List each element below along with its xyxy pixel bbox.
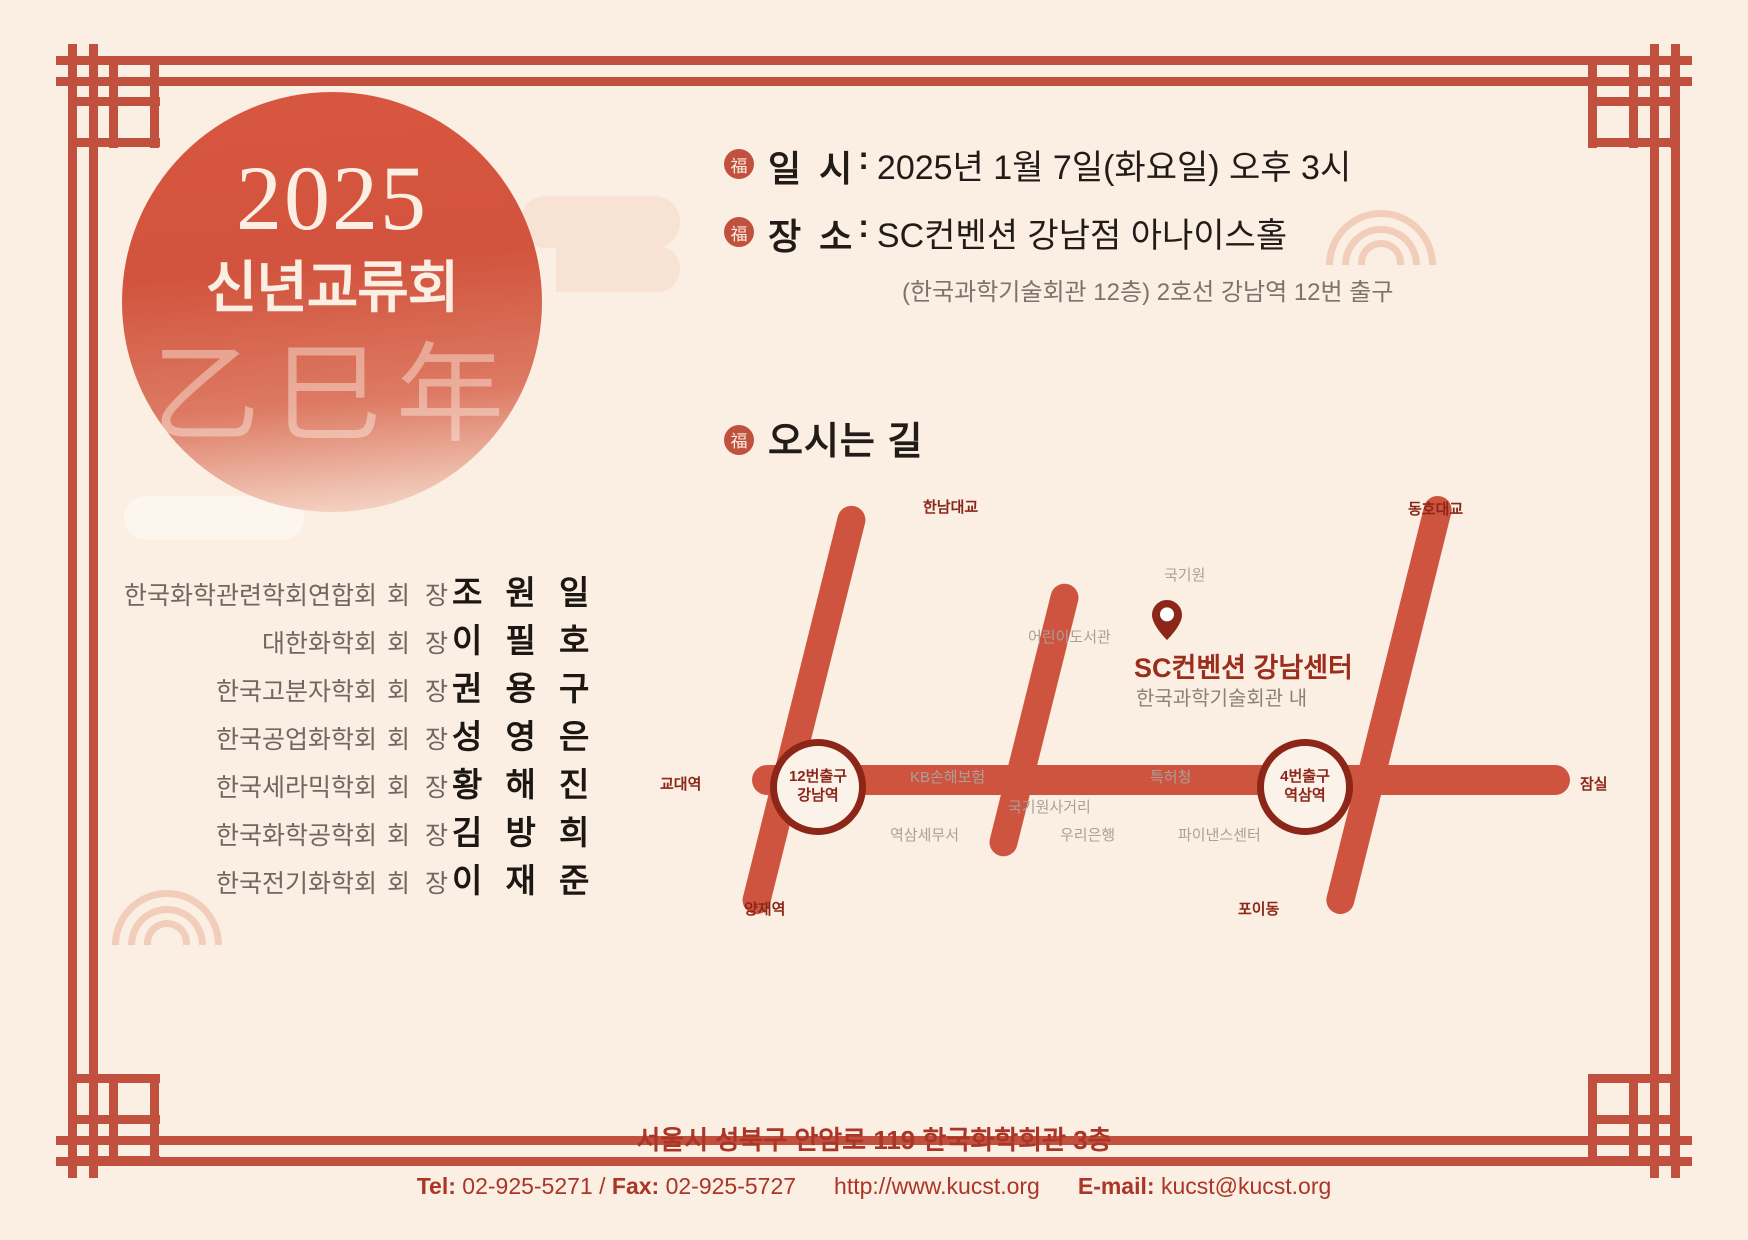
directions-heading: 福 오시는 길 [724, 410, 923, 465]
event-info: 福 일 시 : 2025년 1월 7일(화요일) 오후 3시 福 장 소 : S… [724, 140, 1393, 307]
info-row-place: 福 장 소 : SC컨벤션 강남점 아나이스홀 [724, 208, 1393, 260]
president-name: 권 용 구 [452, 662, 580, 710]
map-endpoint-poidong: 포이동 [1238, 898, 1279, 919]
info-row-date: 福 일 시 : 2025년 1월 7일(화요일) 오후 3시 [724, 140, 1393, 192]
org-name: 한국공업화학회 [216, 720, 377, 756]
map-endpoint-hannamdaegyo: 한남대교 [923, 496, 978, 517]
org-role: 회 장 [387, 576, 452, 612]
destination-sub: 한국과학기술회관 내 [1136, 682, 1307, 711]
map-endpoint-jamsil: 잠실 [1580, 773, 1608, 794]
road-diagonal-2 [987, 581, 1082, 859]
map-place-woori-bank: 우리은행 [1060, 824, 1115, 845]
map-endpoint-gyodae: 교대역 [660, 773, 701, 794]
date-label: 일 시 [768, 140, 856, 192]
station-name: 역삼역 [1284, 787, 1325, 806]
map-place-yeoksam-tax-office: 역삼세무서 [890, 824, 959, 845]
list-item: 한국화학공학회 회 장 김 방 희 [120, 806, 580, 854]
email-value[interactable]: kucst@kucst.org [1161, 1173, 1331, 1200]
hero-hanja-watermark: 乙巳年 [150, 338, 520, 457]
list-item: 한국전기화학회 회 장 이 재 준 [120, 854, 580, 902]
station-exit: 4번출구 [1280, 768, 1330, 787]
list-item: 한국화학관련학회연합회 회 장 조 원 일 [120, 566, 580, 614]
date-value: 2025년 1월 7일(화요일) 오후 3시 [877, 140, 1351, 189]
directions-heading-text: 오시는 길 [768, 410, 923, 465]
footer-contact-line: Tel: 02-925-5271 / Fax: 02-925-5727 http… [0, 1173, 1748, 1200]
road-diagonal-1 [740, 503, 869, 917]
separator-slash: / [599, 1173, 605, 1200]
org-name: 한국전기화학회 [216, 864, 377, 900]
org-role: 회 장 [387, 624, 452, 660]
station-exit: 12번출구 [789, 768, 847, 787]
map-place-gukgiwon: 국기원 [1164, 564, 1205, 585]
map-endpoint-yangjae: 양재역 [744, 898, 785, 919]
cloud-decoration [520, 196, 680, 248]
list-item: 한국공업화학회 회 장 성 영 은 [120, 710, 580, 758]
org-name: 한국고분자학회 [216, 672, 377, 708]
list-item: 한국고분자학회 회 장 권 용 구 [120, 662, 580, 710]
fax-label: Fax: [612, 1173, 659, 1200]
president-name: 성 영 은 [452, 710, 580, 758]
place-sub-note: (한국과학기술회관 12층) 2호선 강남역 12번 출구 [902, 272, 1393, 307]
footer-address: 서울시 성북구 안암로 119 한국화학회관 3층 [0, 1120, 1748, 1157]
place-value: SC컨벤션 강남점 아나이스홀 [877, 208, 1287, 257]
cloud-decoration [556, 246, 680, 292]
president-name: 황 해 진 [452, 758, 580, 806]
footer: 서울시 성북구 안암로 119 한국화학회관 3층 Tel: 02-925-52… [0, 1120, 1748, 1200]
station-name: 강남역 [797, 787, 838, 806]
website-url[interactable]: http://www.kucst.org [834, 1173, 1040, 1200]
poster-root: 2025 신년교류회 乙巳年 福 일 시 : 2025년 1월 7일(화요일) … [0, 0, 1748, 1240]
presidents-list: 한국화학관련학회연합회 회 장 조 원 일 대한화학회 회 장 이 필 호 한국… [120, 566, 580, 902]
tel-label: Tel: [417, 1173, 456, 1200]
president-name: 이 필 호 [452, 614, 580, 662]
email-label: E-mail: [1078, 1173, 1155, 1200]
fortune-福-icon: 福 [724, 217, 754, 247]
map-place-childrens-library: 어린이도서관 [1028, 626, 1111, 647]
place-colon: : [858, 208, 869, 245]
map-place-kb-insurance: KB손해보험 [910, 766, 985, 787]
org-role: 회 장 [387, 672, 452, 708]
destination-name: SC컨벤션 강남센터 [1134, 646, 1353, 685]
location-map: 12번출구 강남역 4번출구 역삼역 한남대교 동호대교 교대역 잠실 양재역 … [640, 480, 1700, 940]
org-role: 회 장 [387, 720, 452, 756]
org-name: 한국화학관련학회연합회 [124, 576, 377, 612]
list-item: 대한화학회 회 장 이 필 호 [120, 614, 580, 662]
org-name: 대한화학회 [262, 624, 377, 660]
fortune-福-icon: 福 [724, 425, 754, 455]
road-diagonal-3 [1323, 493, 1454, 917]
station-yeoksam: 4번출구 역삼역 [1257, 739, 1353, 835]
org-role: 회 장 [387, 816, 452, 852]
map-pin-icon [1152, 600, 1182, 640]
date-colon: : [858, 140, 869, 177]
org-role: 회 장 [387, 768, 452, 804]
hero-year: 2025 [122, 152, 542, 244]
map-place-gukgiwon-intersection: 국기원사거리 [1008, 796, 1091, 817]
map-place-finance-center: 파이낸스센터 [1178, 824, 1261, 845]
map-endpoint-donghodaegyo: 동호대교 [1408, 498, 1463, 519]
org-role: 회 장 [387, 864, 452, 900]
tel-value: 02-925-5271 [462, 1173, 592, 1200]
lattice-corner-icon [1588, 56, 1680, 148]
president-name: 조 원 일 [452, 566, 580, 614]
place-label: 장 소 [768, 208, 856, 260]
president-name: 김 방 희 [452, 806, 580, 854]
lattice-corner-icon [68, 56, 160, 148]
president-name: 이 재 준 [452, 854, 580, 902]
list-item: 한국세라믹학회 회 장 황 해 진 [120, 758, 580, 806]
org-name: 한국화학공학회 [216, 816, 377, 852]
org-name: 한국세라믹학회 [216, 768, 377, 804]
fortune-福-icon: 福 [724, 149, 754, 179]
station-gangnam: 12번출구 강남역 [770, 739, 866, 835]
map-place-patent-office: 특허청 [1150, 766, 1191, 787]
hero-title: 신년교류회 [122, 260, 542, 316]
fax-value: 02-925-5727 [666, 1173, 796, 1200]
